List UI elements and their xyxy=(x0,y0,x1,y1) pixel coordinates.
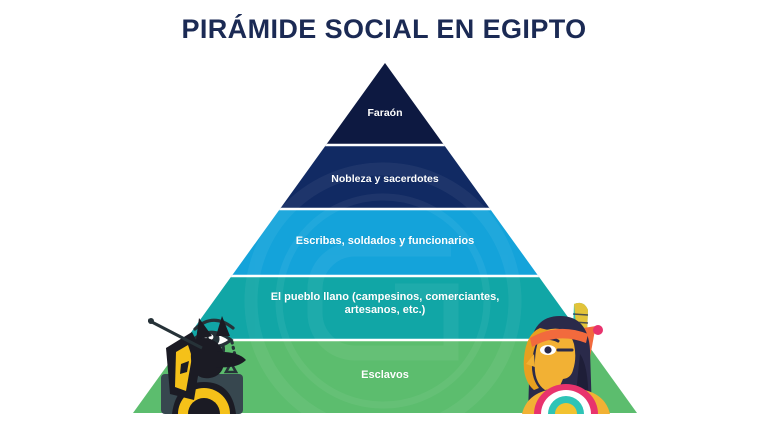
slide-canvas: PIRÁMIDE SOCIAL EN EGIPTO xyxy=(0,0,768,432)
deity-pupil xyxy=(544,346,551,353)
rod-tip xyxy=(148,318,154,324)
page-title: PIRÁMIDE SOCIAL EN EGIPTO xyxy=(0,14,768,45)
pyramid-tier-1-band xyxy=(133,63,637,145)
anubis-statue-illustration xyxy=(148,296,268,414)
jackal-snout xyxy=(216,352,246,367)
egyptian-deity-illustration xyxy=(508,300,626,414)
